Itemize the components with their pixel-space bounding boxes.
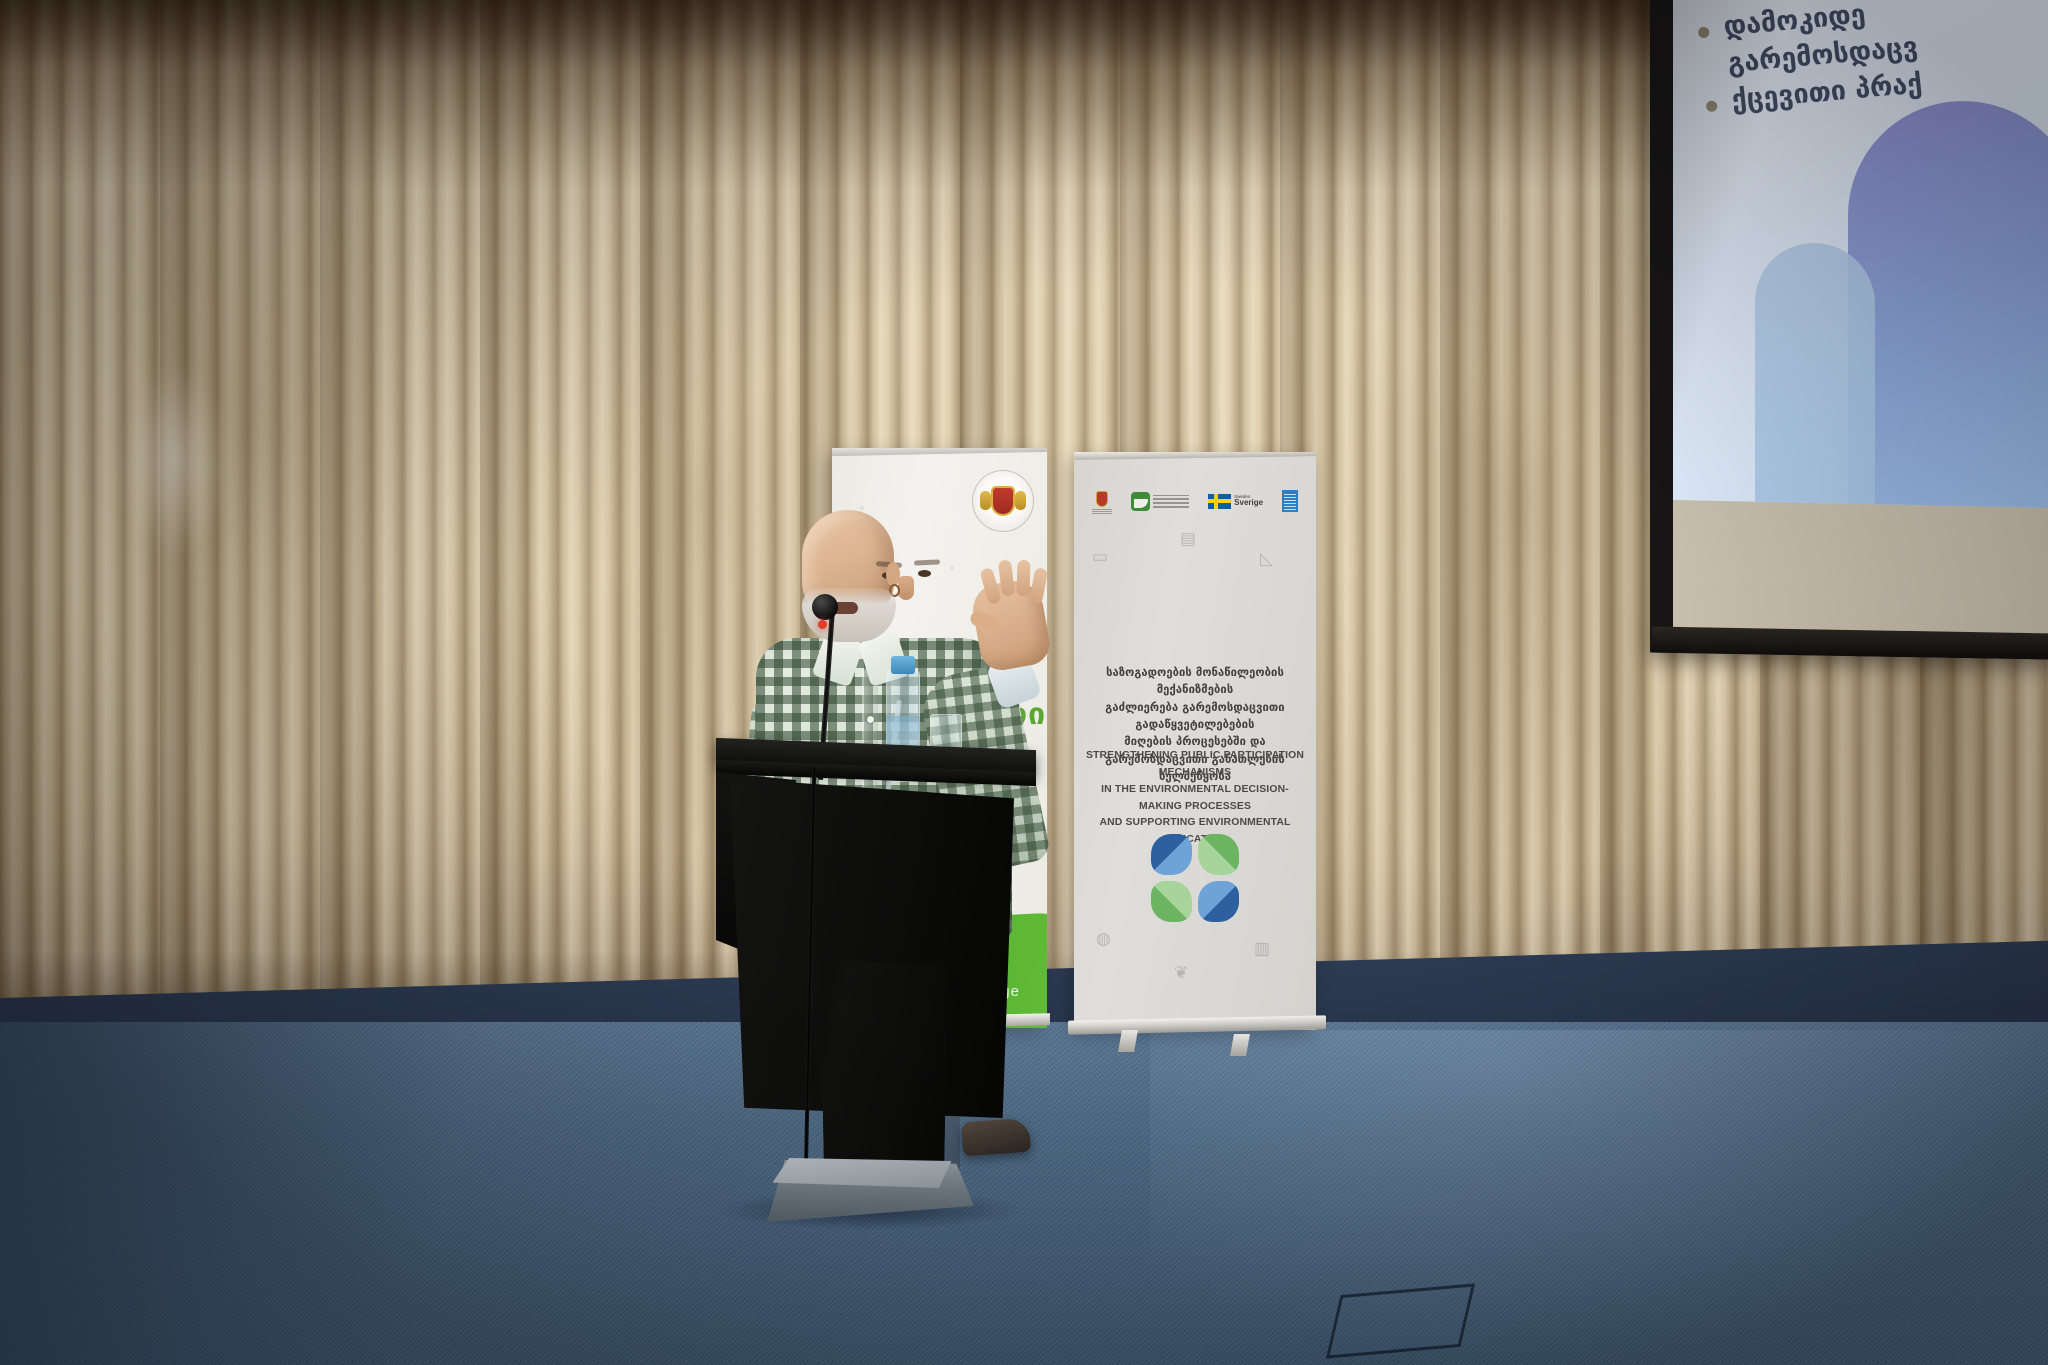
slide-decor-arch-large bbox=[1848, 99, 2048, 508]
speaker-shoe bbox=[961, 1118, 1031, 1157]
heading-ka-line: საზოგადოების მონაწილეობის მექანიზმების bbox=[1082, 664, 1308, 699]
curtain-highlight bbox=[120, 360, 230, 560]
sweden-label: Sverige bbox=[1234, 498, 1263, 507]
speaker-ear bbox=[886, 562, 900, 586]
speaker-eye bbox=[918, 570, 931, 577]
slide-decor-arch-small bbox=[1755, 242, 1875, 508]
projection-screen[interactable]: დამოკიდე გარემოსდაცვ ქცევითი პრაქ bbox=[1673, 0, 2048, 650]
banner-main-rail bbox=[1074, 452, 1316, 460]
georgia-coat-of-arms-icon bbox=[1092, 489, 1112, 513]
plant-icon: ❦ bbox=[1174, 964, 1188, 981]
bullet-dot-icon bbox=[1698, 27, 1710, 39]
heading-en-line: STRENGTHENING PUBLIC PARTICIPATION MECHA… bbox=[1082, 748, 1308, 782]
sweden-flag-icon bbox=[1208, 494, 1231, 509]
banner-main: SwedenSverige ▭ ▤ ◺ ◍ ▥ ❦ საზოგადოების მ… bbox=[1074, 452, 1316, 1030]
sweden-logo-icon: SwedenSverige bbox=[1208, 494, 1263, 509]
bullet-dot-icon bbox=[1706, 100, 1718, 112]
microphone-led-indicator bbox=[818, 620, 827, 629]
undp-logo-icon bbox=[1282, 490, 1298, 512]
globe-icon: ◍ bbox=[1096, 930, 1111, 947]
conference-room-photo: დამოკიდე გარემოსდაცვ ქცევითი პრაქ ემოსდა… bbox=[0, 0, 2048, 1365]
floor-hatch bbox=[1326, 1283, 1475, 1358]
presenter-board-icon: ▥ bbox=[1254, 940, 1270, 957]
environment-agency-logo-icon bbox=[1131, 492, 1189, 511]
four-petal-leaf-logo-icon bbox=[1151, 834, 1239, 922]
podium-column bbox=[816, 960, 952, 1180]
megaphone-icon: ◺ bbox=[1260, 550, 1273, 567]
banner-logo-row: SwedenSverige bbox=[1074, 484, 1316, 518]
heading-ka-line: გაძლიერება გარემოსდაცვითი გადაწყვეტილებე… bbox=[1082, 699, 1308, 734]
document-checklist-icon: ▤ bbox=[1180, 530, 1196, 547]
slide-bullet-text: დამოკიდე bbox=[1722, 0, 1867, 42]
bottle-cap[interactable] bbox=[891, 656, 915, 674]
heading-en-line: IN THE ENVIRONMENTAL DECISION-MAKING PRO… bbox=[1082, 782, 1308, 816]
presentation-slide: დამოკიდე გარემოსდაცვ ქცევითი პრაქ bbox=[1673, 0, 2048, 508]
microphone-icon[interactable] bbox=[812, 594, 838, 620]
speaker-nose bbox=[898, 576, 914, 600]
laptop-icon: ▭ bbox=[1092, 548, 1108, 565]
